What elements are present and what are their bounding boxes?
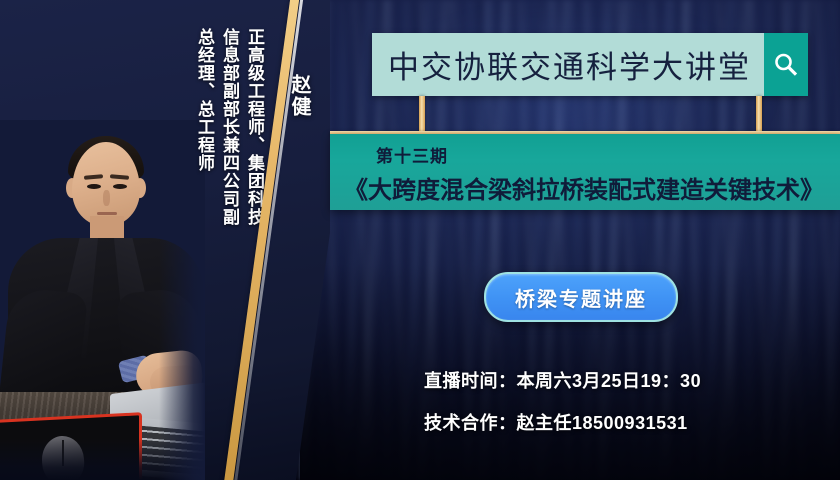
lecture-title: 《大跨度混合梁斜拉桥装配式建造关键技术》	[344, 170, 824, 205]
header-title-bar: 中交协联交通科学大讲堂	[372, 33, 808, 96]
header-title-text: 中交协联交通科学大讲堂	[388, 42, 751, 87]
search-icon-button[interactable]	[764, 33, 808, 96]
contact-text: 技术合作：赵主任18500931531	[424, 409, 688, 435]
topic-badge-label: 桥梁专题讲座	[515, 283, 647, 312]
speaker-title-column-1: 正高级工程师、集团科技	[245, 28, 263, 226]
live-time-text: 直播时间：本周六3月25日19：30	[424, 367, 701, 393]
poster-root: 正高级工程师、集团科技 信息部副部长兼四公司副 总经理、总工程师 赵健 中交协联…	[0, 0, 840, 480]
speaker-title-block: 正高级工程师、集团科技 信息部副部长兼四公司副 总经理、总工程师	[188, 28, 263, 226]
speaker-title-column-2: 信息部副部长兼四公司副	[220, 28, 238, 226]
header-title-plate: 中交协联交通科学大讲堂	[372, 33, 764, 96]
search-icon	[773, 52, 799, 78]
speaker-title-column-3: 总经理、总工程师	[195, 28, 213, 172]
speaker-portrait	[0, 120, 205, 480]
lecture-issue-number: 第十三期	[376, 142, 448, 167]
gold-post-right	[756, 96, 762, 134]
lecture-info-panel: 第十三期 《大跨度混合梁斜拉桥装配式建造关键技术》	[330, 134, 840, 210]
gold-post-left	[419, 96, 425, 134]
topic-badge[interactable]: 桥梁专题讲座	[484, 272, 678, 322]
